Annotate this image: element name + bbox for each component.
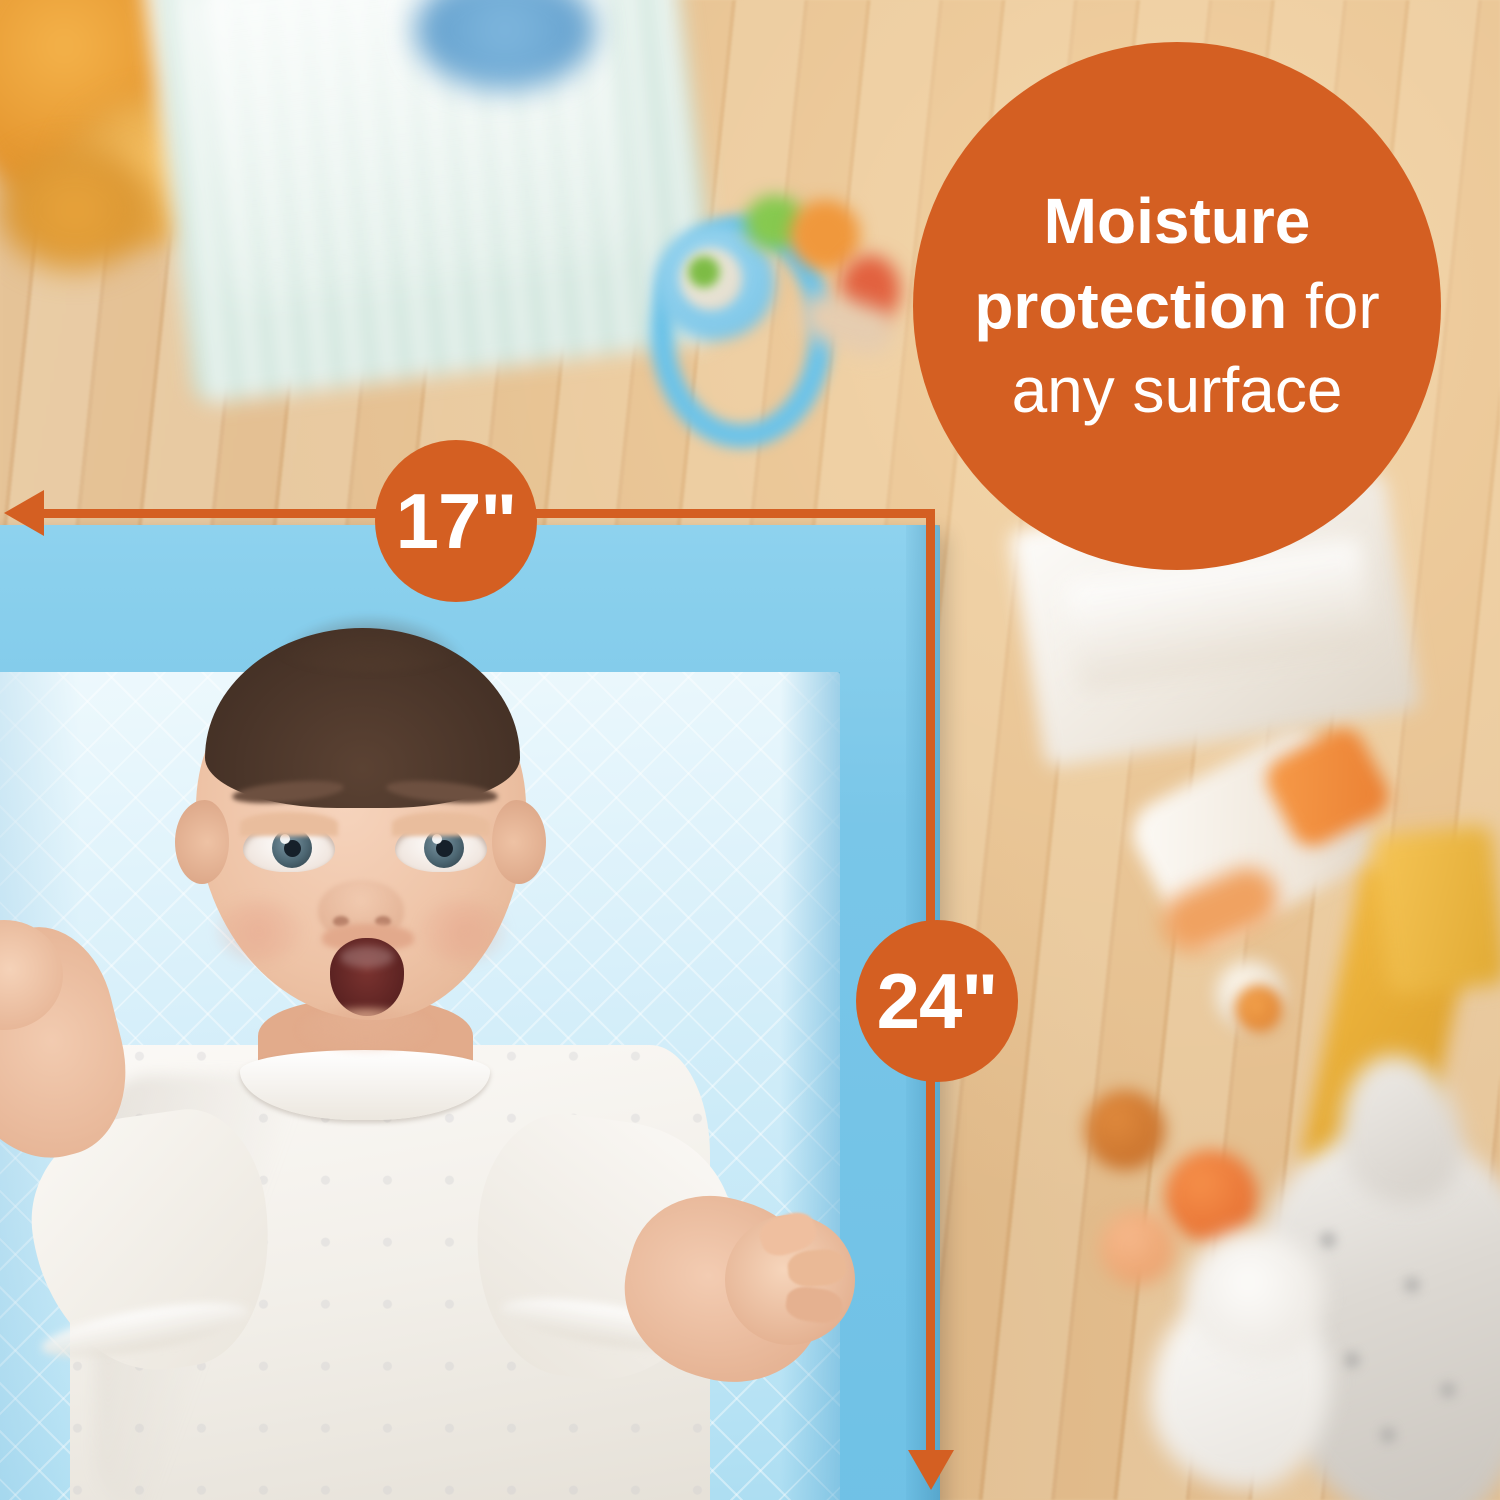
callout-line-3: any surface [1012,354,1343,426]
baby-left-eyelid [240,812,338,836]
plush-bear-toy-paw [0,150,150,270]
feature-callout-text: Moisture protection for any surface [922,179,1431,432]
height-measurement-badge: 24" [856,920,1018,1082]
wooden-bead-a [1085,1090,1165,1170]
product-infographic: 17" 24" Moisture protection for any surf… [0,0,1500,1500]
width-measurement-badge: 17" [375,440,537,602]
wooden-bead-e [1235,985,1283,1033]
width-measurement-label: 17" [396,482,517,560]
rattle-green-bead [688,256,720,288]
arrow-left-icon [4,490,44,536]
callout-line-1: Moisture [1044,185,1311,257]
wooden-bead-c [1100,1210,1175,1285]
callout-line-2-bold: protection [974,270,1287,342]
feature-callout-badge: Moisture protection for any surface [913,42,1441,570]
height-measurement-label: 24" [877,962,998,1040]
wooden-bead-b [1165,1150,1257,1242]
arrow-down-icon [908,1450,954,1490]
baby-right-eyelid [392,812,490,836]
baby-hair-wisp [270,612,470,672]
baby-chin [300,1008,432,1052]
baby-right-ear [492,800,546,884]
baby-mouth-highlight [340,946,394,968]
callout-line-2-rest: for [1287,270,1379,342]
yellow-wooden-toy-2 [1372,824,1500,996]
baby-right-cheek [420,900,506,962]
baby-left-ear [175,800,229,884]
rattle-orange-bead [790,200,860,270]
baby-left-cheek [216,900,302,962]
